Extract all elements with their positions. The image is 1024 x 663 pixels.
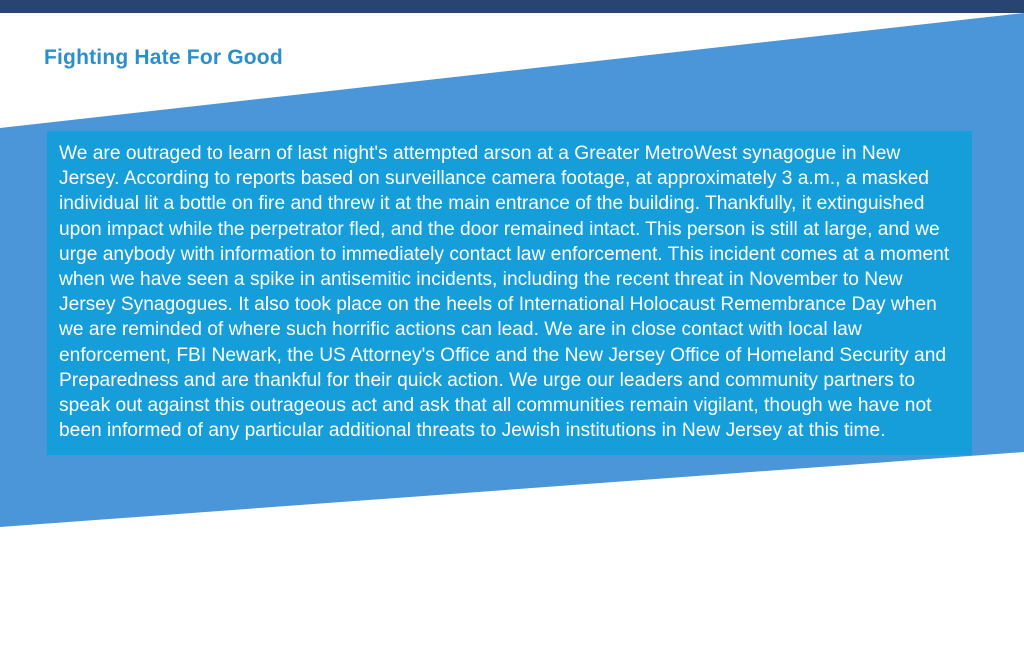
slide-canvas: Fighting Hate For Good We are outraged t… <box>0 0 1024 663</box>
top-navy-bar <box>0 0 1024 13</box>
page-title: Fighting Hate For Good <box>44 46 283 70</box>
logo-strip: AJC New Jersey CSS COMMUNITY SECURITY SE… <box>0 498 1024 623</box>
statement-text: We are outraged to learn of last night's… <box>59 141 960 443</box>
statement-panel: We are outraged to learn of last night's… <box>47 131 972 455</box>
